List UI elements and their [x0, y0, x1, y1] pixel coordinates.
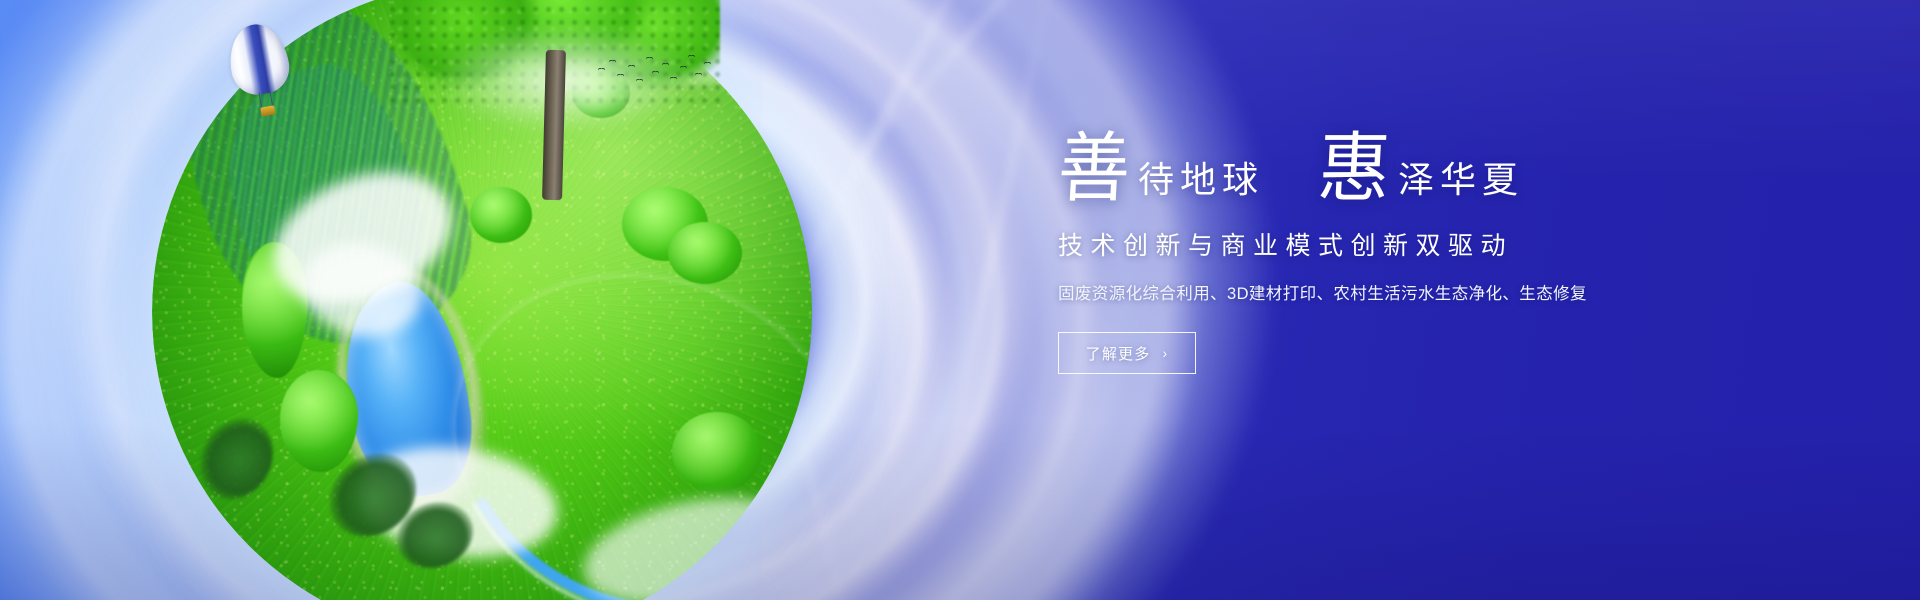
- bird-icon: [688, 55, 695, 59]
- bird-icon: [652, 71, 659, 75]
- globe-bush: [668, 222, 742, 284]
- learn-more-label: 了解更多: [1086, 343, 1151, 364]
- hero-tree-icon: [390, 0, 720, 194]
- globe-bush: [470, 187, 532, 243]
- bird-icon: [704, 62, 711, 66]
- globe-bush: [672, 412, 762, 492]
- learn-more-button[interactable]: 了解更多 ›: [1058, 332, 1196, 374]
- bird-icon: [598, 68, 605, 72]
- bird-icon: [680, 66, 687, 70]
- hero-subtitle: 技术创新与商业模式创新双驱动: [1058, 226, 1678, 262]
- bird-icon: [695, 73, 702, 77]
- bird-icon: [662, 63, 669, 67]
- hero-description: 固废资源化综合利用、3D建材打印、农村生活污水生态净化、生态修复: [1058, 280, 1678, 304]
- hero-banner: 善 待地球 惠 泽华夏 技术创新与商业模式创新双驱动 固废资源化综合利用、3D建…: [0, 0, 1920, 600]
- bird-icon: [628, 65, 635, 69]
- chevron-right-icon: ›: [1162, 346, 1168, 360]
- bird-icon: [636, 79, 643, 83]
- bird-icon: [646, 57, 653, 61]
- bird-icon: [670, 77, 677, 81]
- tree-trunk: [542, 50, 566, 200]
- balloon-basket: [260, 105, 275, 116]
- headline-text-zehuaxia: 泽华夏: [1390, 162, 1524, 204]
- hero-text-block: 善 待地球 惠 泽华夏 技术创新与商业模式创新双驱动 固废资源化综合利用、3D建…: [1058, 120, 1678, 374]
- headline-char-hui: 惠: [1316, 134, 1392, 206]
- hero-headline: 善 待地球 惠 泽华夏: [1058, 120, 1678, 204]
- headline-char-shan: 善: [1056, 134, 1132, 206]
- bird-flock-icon: [596, 52, 716, 92]
- balloon-envelope: [224, 20, 293, 99]
- bird-icon: [609, 60, 616, 64]
- headline-text-daidiqiu: 待地球: [1130, 162, 1264, 204]
- bird-icon: [617, 74, 624, 78]
